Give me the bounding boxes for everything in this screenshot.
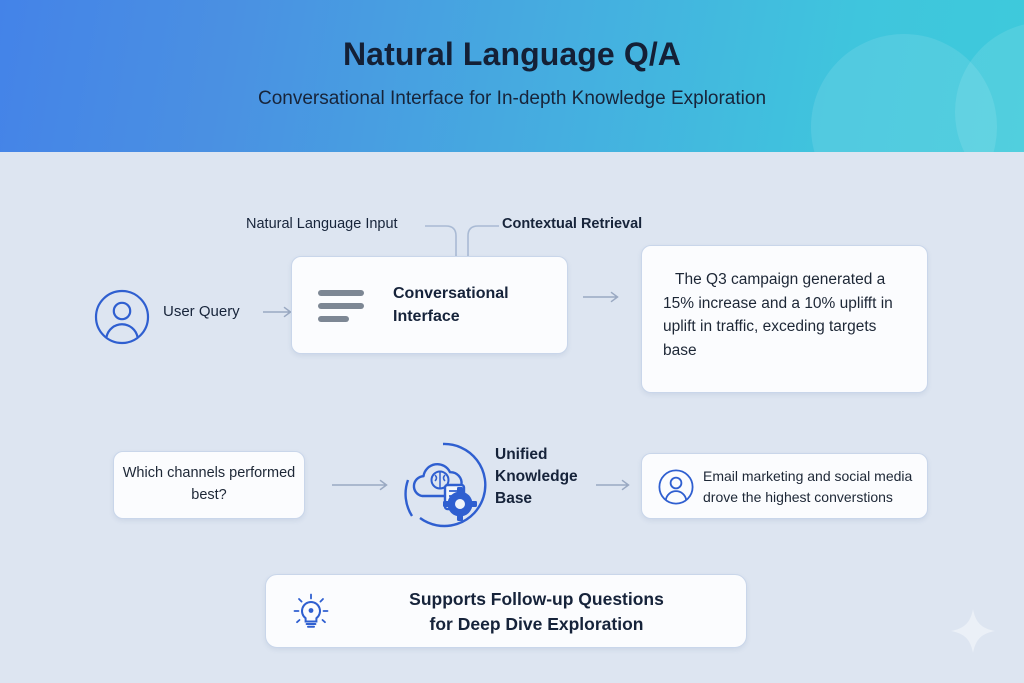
user-query-label: User Query (163, 303, 240, 320)
answer-text-primary: The Q3 campaign generated a 15% increase… (663, 268, 909, 362)
follow-up-question-text: Which channels performed best? (114, 463, 304, 507)
conversational-interface-card[interactable]: Conversational Interface (291, 256, 568, 354)
lightbulb-icon (292, 593, 330, 631)
answer-card-secondary: Email marketing and social media drove t… (641, 453, 928, 519)
page-title: Natural Language Q/A (0, 36, 1024, 73)
follow-up-banner-line1: Supports Follow-up Questions (409, 589, 664, 609)
page-subtitle: Conversational Interface for In-depth Kn… (0, 88, 1024, 110)
infographic-canvas: Natural Language Q/A Conversational Inte… (0, 0, 1024, 683)
follow-up-banner-text: Supports Follow-up Questions for Deep Di… (344, 587, 729, 637)
annotation-natural-language-input: Natural Language Input (246, 216, 398, 232)
annotation-contextual-retrieval: Contextual Retrieval (502, 216, 642, 232)
arrow-knowledge-base-to-answer (596, 478, 634, 492)
hamburger-menu-icon (318, 290, 364, 322)
follow-up-question-card[interactable]: Which channels performed best? (113, 451, 305, 519)
user-avatar-icon-small (658, 469, 694, 505)
header-banner: Natural Language Q/A Conversational Inte… (0, 0, 1024, 152)
cloud-brain-document-gear-icon (398, 440, 488, 530)
follow-up-banner: Supports Follow-up Questions for Deep Di… (265, 574, 747, 648)
knowledge-base-label: Unified Knowledge Base (495, 444, 605, 510)
arrow-interface-to-answer (583, 290, 623, 304)
user-avatar-icon (94, 289, 150, 345)
conversational-interface-title: Conversational Interface (393, 283, 553, 328)
follow-up-banner-line2: for Deep Dive Exploration (430, 614, 644, 634)
four-point-star-icon (950, 608, 996, 654)
answer-card-primary: The Q3 campaign generated a 15% increase… (641, 245, 928, 393)
arrow-question-to-knowledge-base (332, 478, 392, 492)
answer-text-secondary: Email marketing and social media drove t… (703, 466, 919, 508)
